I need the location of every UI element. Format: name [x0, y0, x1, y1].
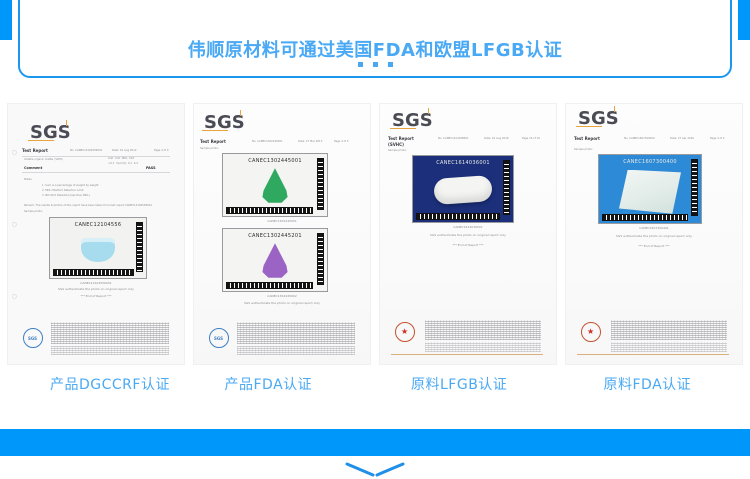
stamp-star-icon: ★ [587, 328, 594, 336]
note-item: 1. Sum is a percentage of weight by weig… [42, 184, 99, 188]
hole-punch-icon [12, 150, 17, 155]
certificate-label-1: 产品DGCCRF认证 [0, 374, 188, 398]
result-label: Comment [24, 166, 42, 171]
doc-number: No. CANEC1614036001 [438, 137, 469, 141]
sgs-underline [576, 126, 602, 127]
ruler-vertical-icon [317, 233, 324, 285]
doc-title: Test Report [200, 139, 226, 144]
chevron-down-icon[interactable] [343, 462, 407, 478]
doc-subtitle: (SVHC) [388, 142, 404, 147]
right-accent-bar [738, 0, 750, 40]
sample-photo: CANEC1302445201 [222, 228, 328, 292]
footer-strip: SGS [205, 322, 360, 362]
end-of-report: *** End of Report *** [80, 294, 111, 298]
official-stamp-icon: ★ [395, 322, 415, 342]
sample-photo: CANEC12104556 [49, 217, 147, 279]
footer-strip: ★ [577, 318, 732, 362]
footer-strip: SGS [19, 322, 174, 362]
doc-number: No. CANEC12104556001 [70, 149, 102, 153]
photo-caption: CANEC12104556001 [80, 281, 111, 285]
sample-code: CANEC1607300400 [623, 159, 677, 165]
sgs-underline [28, 140, 54, 141]
footer-strip: ★ [391, 318, 546, 362]
authenticate-note: SGS authenticate the photo on original r… [244, 301, 320, 305]
ruler-vertical-icon [503, 160, 510, 215]
ruler-horizontal-icon [602, 214, 688, 221]
doc-number: No. CANEC1607300400 [624, 137, 655, 141]
certificate-card[interactable]: SGS Test Report No. CANEC12104556001 Dat… [8, 104, 184, 364]
sgs-stamp-icon: SGS [23, 328, 43, 348]
sgs-tick-icon [66, 120, 67, 126]
end-of-report: *** End of Report *** [638, 244, 669, 248]
sample-photo: CANEC1607300400 [598, 154, 702, 224]
authenticate-note: SGS authenticate the photo on original r… [616, 234, 692, 238]
remark-text: Remark: The results & photos of this rep… [24, 204, 152, 208]
official-stamp-icon: ★ [581, 322, 601, 342]
certificate-label-4: 原料FDA认证 [563, 374, 750, 398]
notes-label: Notes: [24, 178, 32, 182]
sgs-tick-icon [428, 108, 429, 114]
stamp-label: SGS [214, 336, 223, 341]
sample-photo: CANEC1614036001 [412, 155, 514, 223]
photo-caption: CANEC1302445001 [267, 219, 296, 223]
sample-photo-label: Sample photo: [24, 210, 43, 214]
stamp-label: SGS [28, 336, 37, 341]
doc-page: Page 4 of 4 [710, 137, 725, 141]
authenticate-note: SGS authenticate the photo on original r… [58, 287, 134, 291]
sample-photo-label: Sample photo: [574, 148, 593, 152]
certificate-label-3: 原料LFGB认证 [375, 374, 563, 398]
sample-object-mat [619, 170, 681, 214]
section-subtitle: 伟顺原材料可通过美国FDA和欧盟LFGB认证 [0, 36, 750, 62]
ruler-vertical-icon [136, 222, 143, 272]
ruler-horizontal-icon [226, 207, 313, 214]
photo-caption: CANEC1607300401 [639, 226, 668, 230]
dot-2 [373, 62, 378, 67]
sgs-underline [390, 128, 416, 129]
photo-caption: CANEC1302445002 [267, 294, 296, 298]
doc-date: Date: 27 Mar 2013 [298, 140, 322, 144]
table-row-label: Volatile organic matter (VOM) [24, 158, 62, 162]
sgs-tick-icon [240, 110, 241, 116]
ruler-horizontal-icon [416, 213, 500, 220]
sample-code: CANEC1302445201 [248, 233, 302, 239]
certificate-card[interactable]: SGS Test Report (SVHC) No. CANEC16140360… [380, 104, 556, 364]
sample-code: CANEC1302445001 [248, 158, 302, 164]
end-of-report: *** End of Report *** [452, 243, 483, 247]
sample-photo-label: Sample photo: [388, 149, 407, 153]
doc-page: Page 4 of 5 [334, 140, 349, 144]
sample-object-oval [433, 175, 493, 205]
left-accent-bar [0, 0, 12, 40]
doc-page: Page 4 of 4 [154, 149, 169, 153]
certificate-gallery: SGS Test Report No. CANEC12104556001 Dat… [0, 104, 750, 369]
doc-date: Date: 27 Apr 2016 [670, 137, 694, 141]
certificate-label-2: 产品FDA认证 [188, 374, 376, 398]
ruler-vertical-icon [317, 158, 324, 210]
authenticate-note: SGS authenticate the photo on original r… [430, 233, 506, 237]
dot-1 [358, 62, 363, 67]
hole-punch-icon [12, 222, 17, 227]
certification-section: 权威认证 伟顺原材料可通过美国FDA和欧盟LFGB认证 SGS Test Rep… [0, 0, 750, 479]
doc-title: Test Report [388, 136, 414, 141]
doc-date: Date: 01 Aug 2016 [484, 137, 509, 141]
dot-3 [388, 62, 393, 67]
certificate-labels: 产品DGCCRF认证 产品FDA认证 原料LFGB认证 原料FDA认证 [0, 374, 750, 398]
decorative-dots [0, 62, 750, 67]
doc-page: Page 16 of 16 [522, 137, 540, 141]
ruler-horizontal-icon [226, 282, 313, 289]
sample-code: CANEC1614036001 [436, 160, 490, 166]
doc-title: Test Report [574, 136, 600, 141]
doc-date: Date: 01 Aug 2012 [112, 149, 137, 153]
result-value: PASS [146, 166, 156, 171]
sample-photo-label: Sample photo: [200, 147, 219, 151]
doc-title: Test Report [22, 148, 48, 153]
doc-number: No. CANEC1302445001 [252, 140, 283, 144]
sgs-stamp-icon: SGS [209, 328, 229, 348]
photo-caption: CANEC1614036001 [453, 225, 482, 229]
sgs-tick-icon [614, 106, 615, 112]
ruler-vertical-icon [691, 159, 698, 216]
note-item: 3. ND=Not Detected (less than MDL) [42, 194, 90, 198]
table-row-values: <0.1 %(m/m) 0.1 0.4 [108, 162, 138, 166]
table-header: Unit Unit MDL 007 [108, 157, 134, 161]
ruler-horizontal-icon [53, 269, 134, 276]
stamp-star-icon: ★ [401, 328, 408, 336]
note-item: 2. MDL=Method Detection Limit [42, 189, 84, 193]
sample-code: CANEC12104556 [75, 222, 122, 228]
hole-punch-icon [12, 294, 17, 299]
bottom-accent-band [0, 429, 750, 456]
certificate-card[interactable]: SGS Test Report No. CANEC1302445001 Date… [194, 104, 370, 364]
certificate-card[interactable]: SGS Test Report No. CANEC1607300400 Date… [566, 104, 742, 364]
sample-photo: CANEC1302445001 [222, 153, 328, 217]
sgs-underline [202, 130, 228, 131]
